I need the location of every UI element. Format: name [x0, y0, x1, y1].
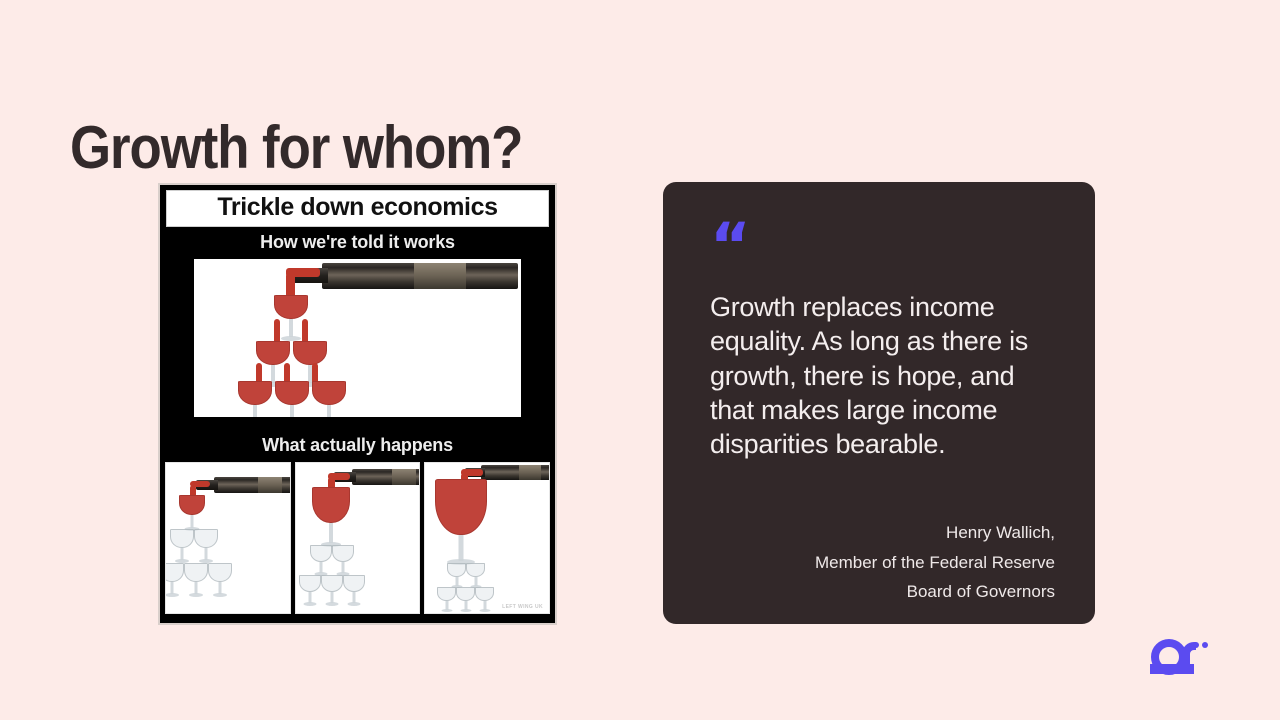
wine-glass	[208, 563, 232, 599]
wine-glass	[179, 495, 205, 533]
quote-mark-icon: “	[710, 230, 1055, 264]
meme-top-panel	[194, 259, 521, 417]
slide-canvas: Growth for whom? Trickle down economics …	[0, 0, 1280, 720]
quote-attribution-line: Henry Wallich,	[815, 518, 1055, 547]
page-title: Growth for whom?	[70, 116, 522, 179]
meme-bottom-panel: LEFT WING UK	[424, 462, 550, 614]
wine-glass	[475, 587, 494, 613]
wine-glass	[435, 479, 487, 565]
wine-pour-elbow	[286, 268, 320, 277]
meme-top-caption: How we're told it works	[160, 227, 555, 259]
quote-attribution-line: Board of Governors	[815, 577, 1055, 606]
wine-glass	[312, 487, 350, 547]
wine-glass	[310, 545, 332, 577]
wine-pour-elbow	[328, 473, 350, 480]
meme-divider	[160, 423, 555, 430]
wine-bottle-icon	[352, 469, 421, 485]
wine-glass	[447, 563, 466, 589]
wine-pour-elbow	[461, 469, 483, 476]
meme-bottom-panel	[165, 462, 291, 614]
wine-glass	[437, 587, 456, 613]
wine-pour-elbow	[190, 481, 210, 487]
wine-glass	[184, 563, 208, 599]
wine-glass	[332, 545, 354, 577]
quote-attribution: Henry Wallich, Member of the Federal Res…	[815, 518, 1055, 606]
wine-glass	[456, 587, 475, 613]
wine-bottle-icon	[481, 465, 550, 480]
quote-card: “ Growth replaces income equality. As lo…	[663, 182, 1095, 624]
trickle-down-meme-image: Trickle down economics How we're told it…	[158, 183, 557, 625]
wine-glass	[466, 563, 485, 589]
snail-logo	[1148, 638, 1210, 678]
meme-bottom-panel	[295, 462, 421, 614]
meme-watermark: LEFT WING UK	[502, 604, 543, 610]
wine-glass	[312, 381, 346, 417]
wine-glass	[275, 381, 309, 417]
wine-glass	[194, 529, 218, 565]
meme-bottom-panel-group: LEFT WING UK	[165, 462, 550, 614]
wine-bottle-icon	[322, 263, 518, 289]
wine-bottle-icon	[214, 477, 291, 493]
quote-text: Growth replaces income equality. As long…	[710, 290, 1050, 461]
wine-glass	[299, 575, 321, 607]
wine-glass	[343, 575, 365, 607]
quote-attribution-line: Member of the Federal Reserve	[815, 548, 1055, 577]
wine-glass	[170, 529, 194, 565]
meme-bottom-caption: What actually happens	[160, 430, 555, 462]
wine-glass	[165, 563, 184, 599]
wine-glass	[238, 381, 272, 417]
meme-banner-title: Trickle down economics	[166, 190, 549, 227]
wine-glass	[321, 575, 343, 607]
